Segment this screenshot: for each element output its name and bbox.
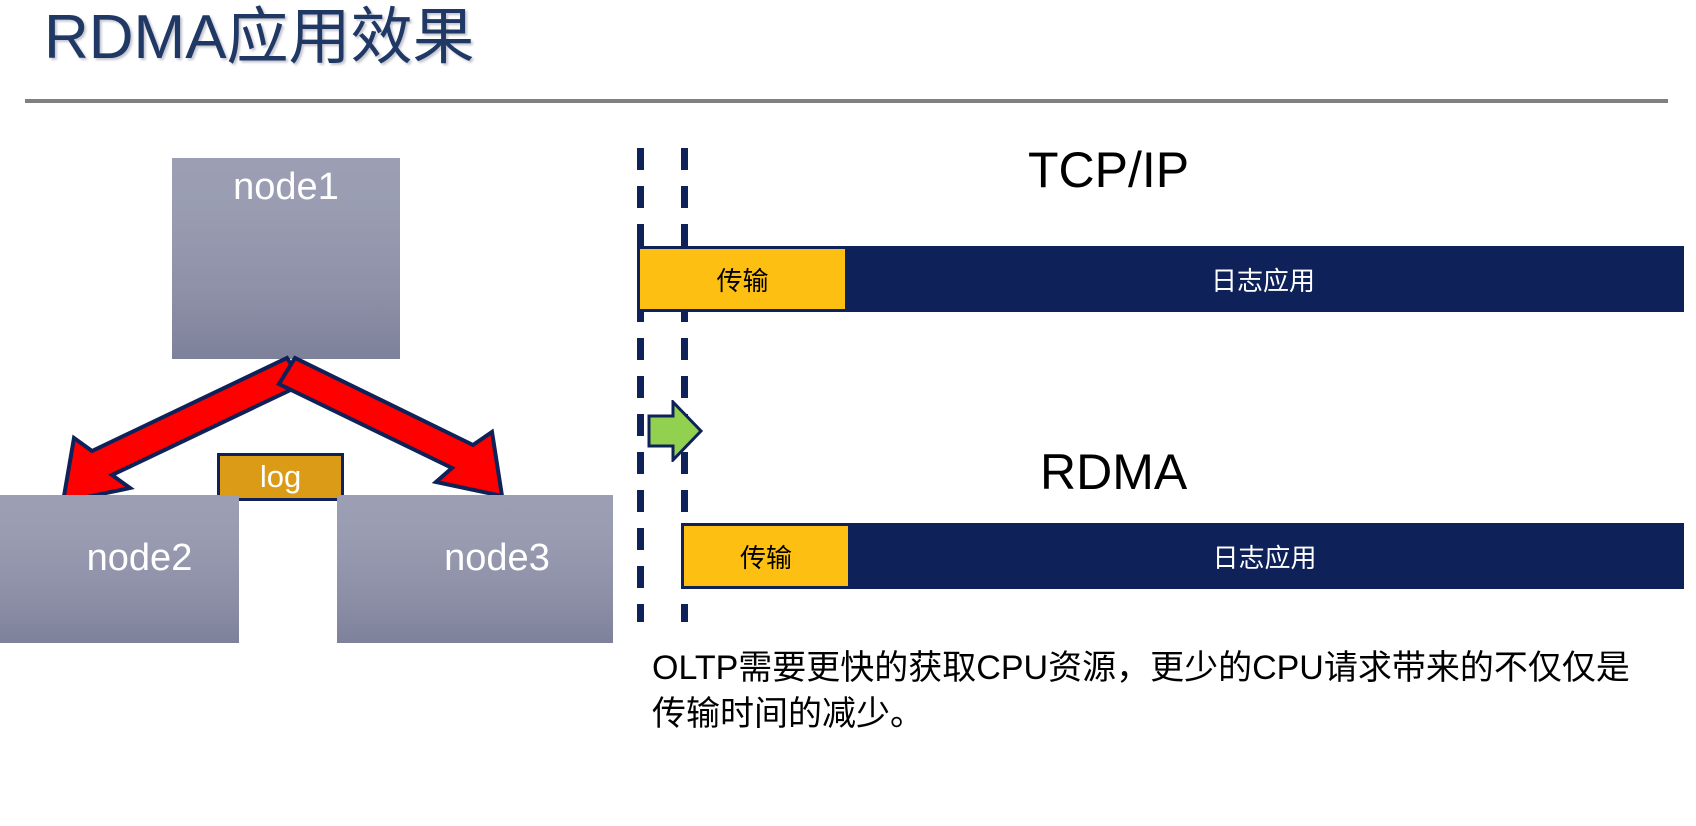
guide-line-start	[637, 148, 644, 622]
tcp-latency-bar: 传输 日志应用	[637, 246, 1684, 312]
log-label: log	[260, 459, 301, 494]
rdma-transfer-segment: 传输	[684, 526, 848, 586]
tcp-protocol-label: TCP/IP	[1028, 141, 1189, 199]
rdma-protocol-label: RDMA	[1040, 443, 1187, 501]
rdma-latency-bar: 传输 日志应用	[681, 523, 1684, 589]
node3-box: node3	[337, 495, 613, 643]
tcp-transfer-segment: 传输	[640, 249, 845, 309]
rdma-app-segment: 日志应用	[848, 526, 1681, 586]
node1-box: node1	[172, 158, 400, 359]
savings-arrow-icon	[645, 400, 705, 462]
slide-caption: OLTP需要更快的获取CPU资源，更少的CPU请求带来的不仅仅是传输时间的减少。	[652, 645, 1652, 737]
node2-box: node2	[0, 495, 239, 643]
node1-label: node1	[233, 166, 339, 208]
node3-label: node3	[444, 537, 550, 579]
log-box: log	[217, 453, 344, 501]
page-title: RDMA应用效果	[44, 2, 475, 74]
title-divider	[25, 99, 1668, 103]
node2-label: node2	[87, 537, 193, 579]
tcp-app-segment: 日志应用	[845, 249, 1681, 309]
